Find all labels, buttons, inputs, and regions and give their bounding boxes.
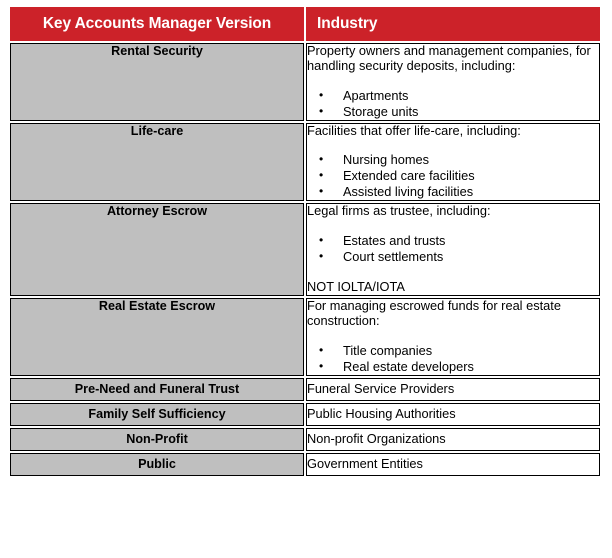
bullet-icon: • (319, 168, 323, 183)
version-label: Life-care (131, 124, 184, 138)
version-label: Public (138, 457, 176, 471)
industry-intro-text: For managing escrowed funds for real est… (307, 299, 599, 329)
list-item: •Nursing homes (307, 152, 599, 168)
version-cell: Real Estate Escrow (10, 298, 304, 376)
column-header-industry: Industry (306, 7, 600, 41)
industry-intro-text: Facilities that offer life-care, includi… (307, 124, 599, 139)
bullet-icon: • (319, 233, 323, 248)
bullet-icon: • (319, 104, 323, 119)
version-label: Attorney Escrow (107, 204, 207, 218)
list-item: •Real estate developers (307, 359, 599, 375)
table-body: Rental SecurityProperty owners and manag… (10, 43, 600, 476)
version-label: Rental Security (111, 44, 203, 58)
list-item: •Assisted living facilities (307, 184, 599, 200)
industry-cell: Non-profit Organizations (306, 428, 600, 451)
table-row: Non-ProfitNon-profit Organizations (10, 428, 600, 451)
bullet-icon: • (319, 343, 323, 358)
list-item-label: Nursing homes (343, 152, 429, 167)
industry-text: Public Housing Authorities (307, 407, 599, 422)
table-header: Key Accounts Manager Version Industry (10, 7, 600, 41)
table-row: Real Estate EscrowFor managing escrowed … (10, 298, 600, 376)
version-label: Pre-Need and Funeral Trust (75, 382, 239, 396)
version-label: Family Self Sufficiency (88, 407, 225, 421)
version-cell: Public (10, 453, 304, 476)
list-item-label: Estates and trusts (343, 233, 445, 248)
version-cell: Non-Profit (10, 428, 304, 451)
version-label: Real Estate Escrow (99, 299, 215, 313)
industry-cell: Property owners and management companies… (306, 43, 600, 121)
industry-bullet-list: •Nursing homes•Extended care facilities•… (307, 152, 599, 200)
table-row: PublicGovernment Entities (10, 453, 600, 476)
list-item: •Court settlements (307, 249, 599, 265)
list-item: •Estates and trusts (307, 233, 599, 249)
industry-footnote: NOT IOLTA/IOTA (307, 280, 599, 295)
version-label: Non-Profit (126, 432, 188, 446)
industry-text: Non-profit Organizations (307, 432, 599, 447)
industry-intro-text: Property owners and management companies… (307, 44, 599, 74)
table-header-row: Key Accounts Manager Version Industry (10, 7, 600, 41)
list-item-label: Extended care facilities (343, 168, 475, 183)
industry-bullet-list: •Title companies•Real estate developers (307, 343, 599, 375)
table-row: Family Self SufficiencyPublic Housing Au… (10, 403, 600, 426)
list-item: •Storage units (307, 104, 599, 120)
industry-cell: Funeral Service Providers (306, 378, 600, 401)
industry-intro-text: Legal firms as trustee, including: (307, 204, 599, 219)
bullet-icon: • (319, 88, 323, 103)
industry-cell: Legal firms as trustee, including:•Estat… (306, 203, 600, 296)
list-item: •Apartments (307, 88, 599, 104)
key-accounts-manager-table: Key Accounts Manager Version Industry Re… (8, 5, 602, 478)
industry-text: Government Entities (307, 457, 599, 472)
version-cell: Life-care (10, 123, 304, 201)
list-item-label: Court settlements (343, 249, 443, 264)
table-row: Attorney EscrowLegal firms as trustee, i… (10, 203, 600, 296)
table-row: Life-careFacilities that offer life-care… (10, 123, 600, 201)
list-item: •Title companies (307, 343, 599, 359)
list-item-label: Title companies (343, 343, 432, 358)
list-item-label: Assisted living facilities (343, 184, 473, 199)
version-cell: Attorney Escrow (10, 203, 304, 296)
bullet-icon: • (319, 152, 323, 167)
list-item: •Extended care facilities (307, 168, 599, 184)
industry-bullet-list: •Apartments•Storage units (307, 88, 599, 120)
version-cell: Family Self Sufficiency (10, 403, 304, 426)
bullet-icon: • (319, 184, 323, 199)
industry-text: Funeral Service Providers (307, 382, 599, 397)
industry-cell: Public Housing Authorities (306, 403, 600, 426)
table-row: Rental SecurityProperty owners and manag… (10, 43, 600, 121)
bullet-icon: • (319, 359, 323, 374)
industry-cell: Government Entities (306, 453, 600, 476)
list-item-label: Real estate developers (343, 359, 474, 374)
industry-bullet-list: •Estates and trusts•Court settlements (307, 233, 599, 265)
industry-cell: Facilities that offer life-care, includi… (306, 123, 600, 201)
list-item-label: Storage units (343, 104, 418, 119)
version-cell: Rental Security (10, 43, 304, 121)
bullet-icon: • (319, 249, 323, 264)
list-item-label: Apartments (343, 88, 408, 103)
version-cell: Pre-Need and Funeral Trust (10, 378, 304, 401)
column-header-version: Key Accounts Manager Version (10, 7, 304, 41)
table-row: Pre-Need and Funeral TrustFuneral Servic… (10, 378, 600, 401)
industry-cell: For managing escrowed funds for real est… (306, 298, 600, 376)
key-accounts-manager-table-container: Key Accounts Manager Version Industry Re… (8, 5, 600, 478)
